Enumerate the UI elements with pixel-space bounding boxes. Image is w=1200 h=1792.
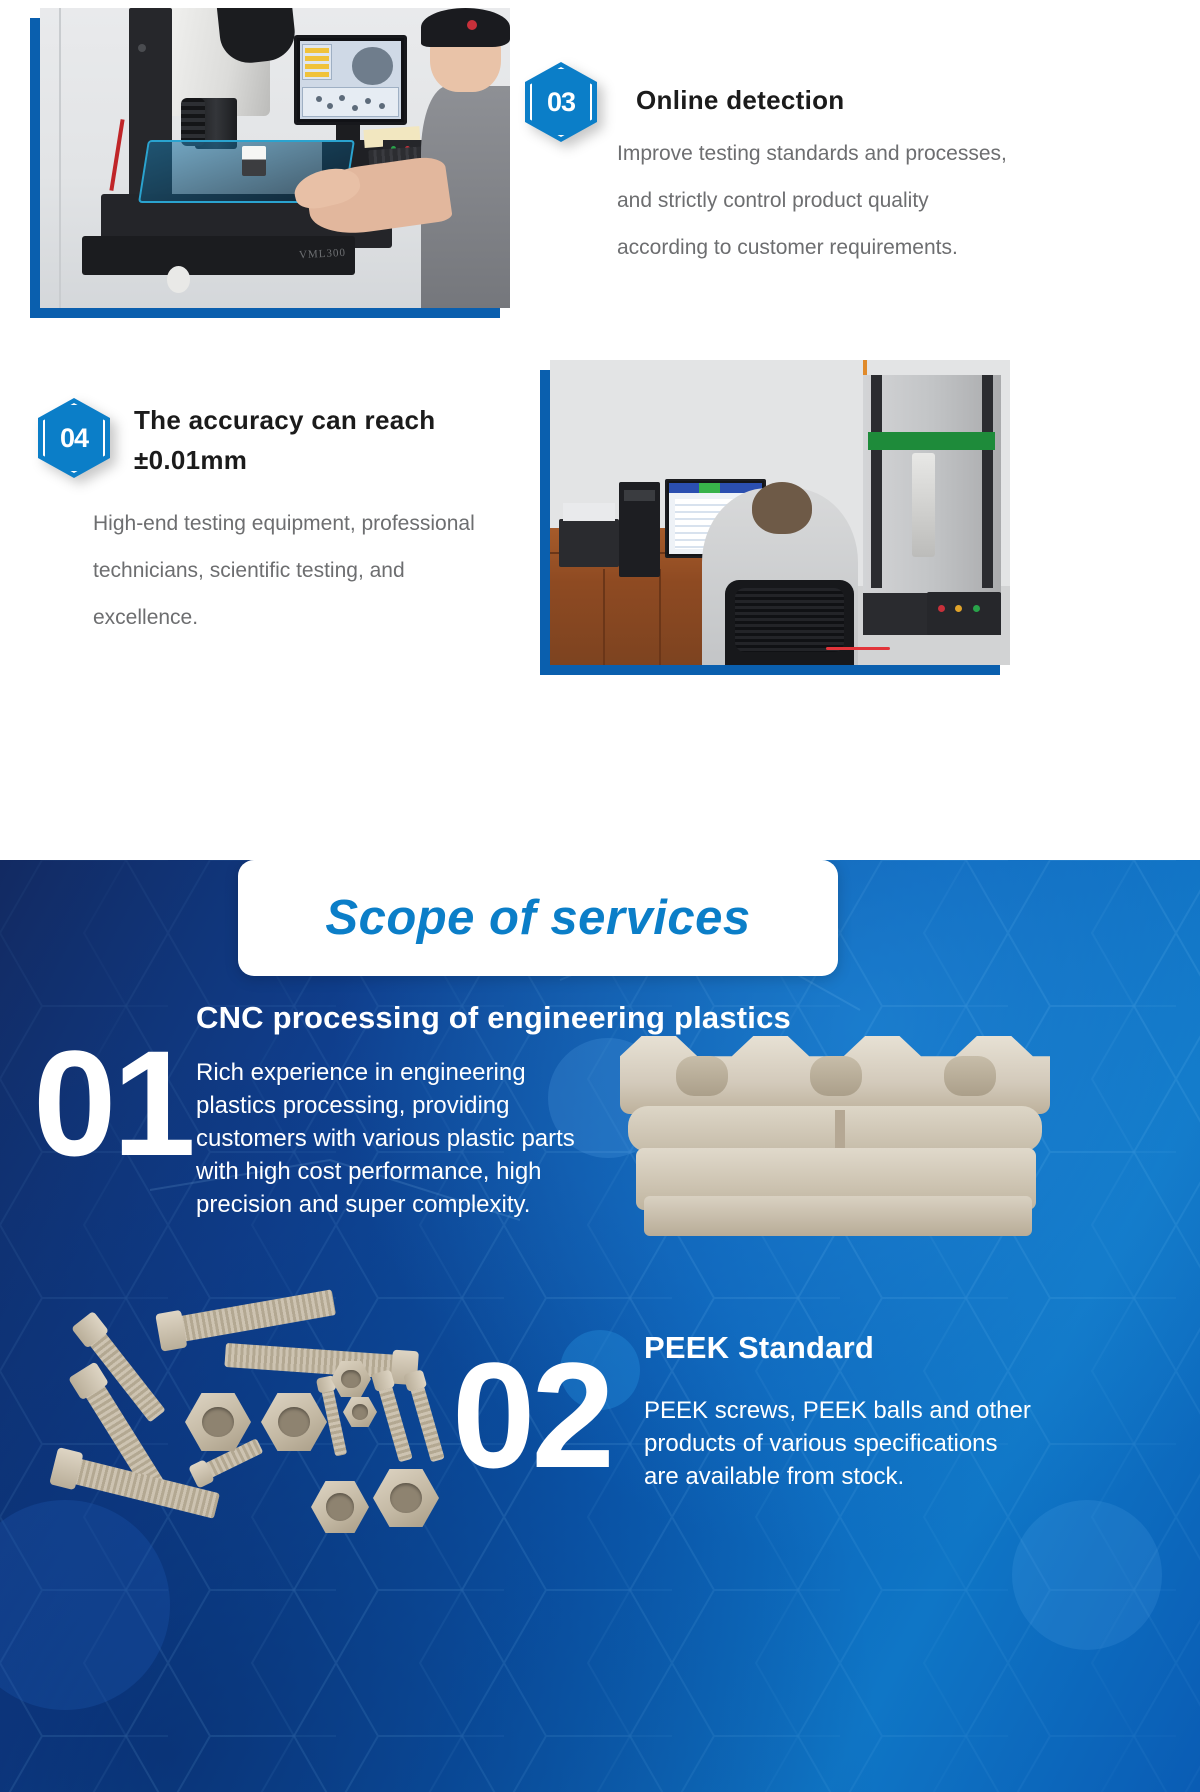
page-root: VML300 03 Online detection Improve testi… <box>0 0 1200 1792</box>
peek-conveyor-chain-image <box>620 1036 1050 1261</box>
service-01-body: Rich experience in engineering plastics … <box>196 1056 596 1221</box>
feature-04-badge: 04 <box>38 398 110 478</box>
service-01-number: 01 <box>33 1028 192 1178</box>
scope-heading: Scope of services <box>325 890 750 946</box>
service-02-title: PEEK Standard <box>644 1330 1064 1366</box>
feature-03-badge: 03 <box>525 62 597 142</box>
feature-03-title: Online detection <box>636 80 1066 120</box>
feature-04-body: High-end testing equipment, professional… <box>93 500 513 641</box>
service-02-body: PEEK screws, PEEK balls and other produc… <box>644 1394 1034 1493</box>
scope-title-card: Scope of services <box>238 860 838 976</box>
optical-measuring-machine-photo: VML300 <box>40 8 510 308</box>
feature-04-number: 04 <box>38 398 110 478</box>
decorative-circle <box>1012 1500 1162 1650</box>
machine-model-label: VML300 <box>298 247 346 261</box>
tensile-testing-lab-photo <box>550 360 1010 665</box>
features-section: VML300 03 Online detection Improve testi… <box>0 0 1200 860</box>
service-01-title: CNC processing of engineering plastics <box>196 1000 936 1036</box>
service-02-number: 02 <box>452 1340 611 1490</box>
scope-of-services-section: Scope of services 01 CNC processing of e… <box>0 860 1200 1792</box>
feature-04-photo-frame <box>540 370 1000 675</box>
feature-03-number: 03 <box>525 62 597 142</box>
feature-04-title: The accuracy can reach ±0.01mm <box>134 400 464 480</box>
feature-03-body: Improve testing standards and processes,… <box>617 130 1009 271</box>
peek-screws-and-nuts-image <box>55 1265 475 1555</box>
feature-03-photo-frame: VML300 <box>30 18 500 318</box>
